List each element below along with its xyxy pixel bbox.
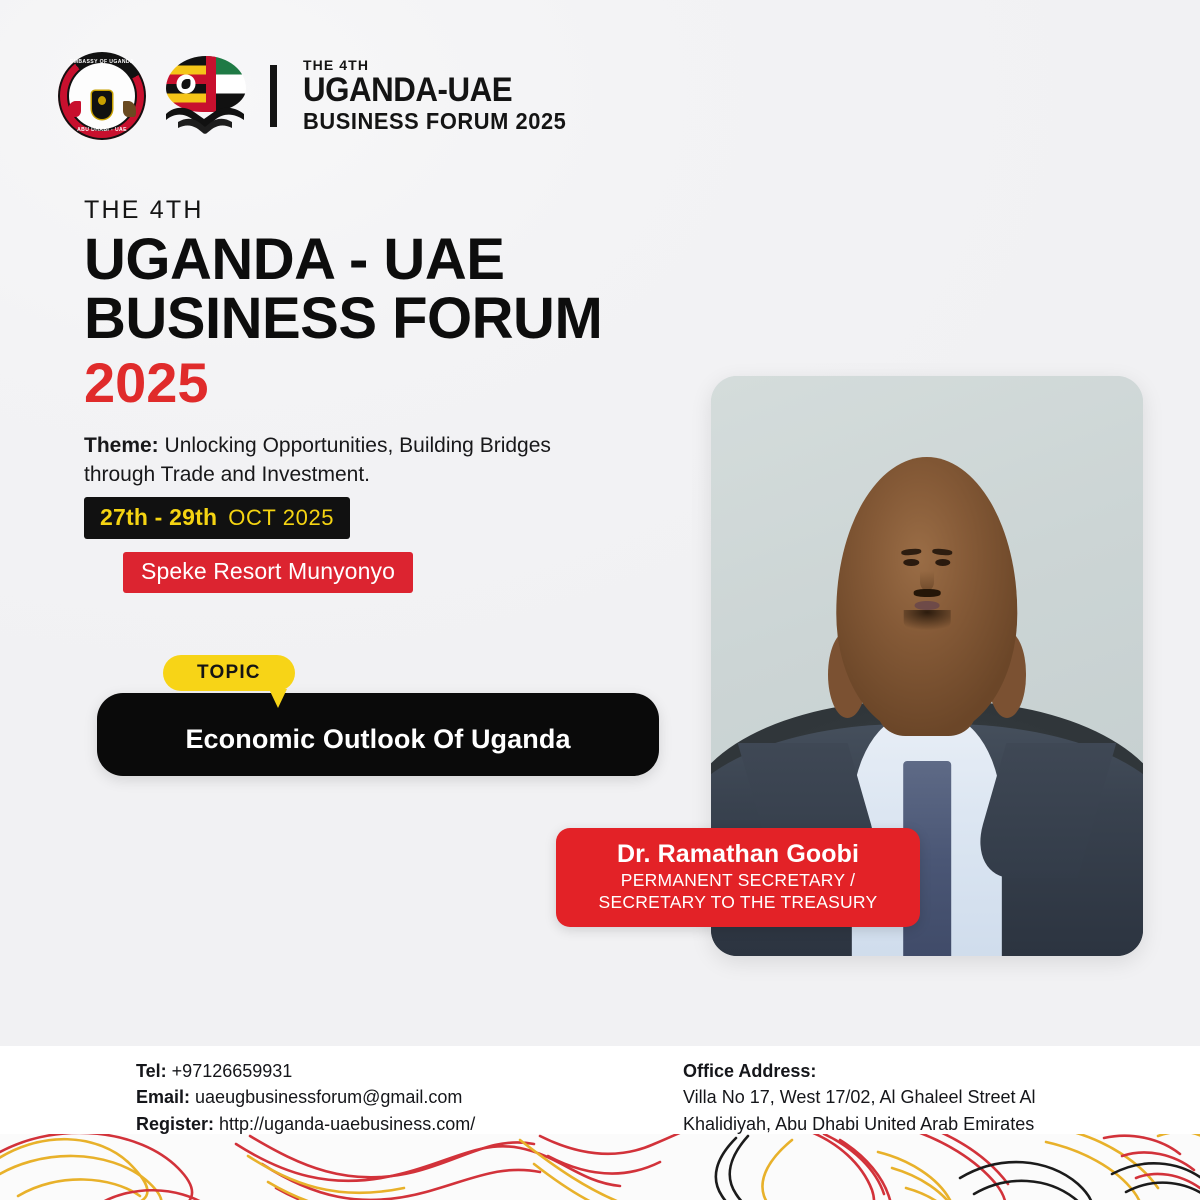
nose	[920, 571, 935, 590]
date-month-year: OCT 2025	[228, 505, 334, 531]
date-badge: 27th - 29th OCT 2025	[84, 497, 350, 539]
uganda-uae-handshake-flags-icon	[160, 52, 252, 140]
seal-top-text: EMBASSY OF UGANDA	[58, 59, 146, 65]
headline-line2: BUSINESS FORUM	[84, 288, 602, 349]
bottom-contour-pattern	[0, 1134, 1200, 1200]
footer-address: Office Address: Villa No 17, West 17/02,…	[683, 1058, 1036, 1137]
event-wordmark: THE 4TH UGANDA-UAE BUSINESS FORUM 2025	[303, 58, 580, 134]
register-url[interactable]: http://uganda-uaebusiness.com/	[214, 1114, 475, 1134]
theme-text: Theme: Unlocking Opportunities, Building…	[84, 432, 554, 490]
crested-crane-icon	[182, 79, 191, 89]
footer-email: Email: uaeugbusinessforum@gmail.com	[136, 1084, 475, 1110]
speaker-name: Dr. Ramathan Goobi	[574, 839, 902, 869]
headline-year: 2025	[84, 352, 602, 414]
uganda-embassy-seal-icon: EMBASSY OF UGANDA ABU DHABI - UAE	[58, 52, 146, 140]
email-label: Email:	[136, 1087, 190, 1107]
headline-eyebrow: THE 4TH	[84, 196, 602, 225]
shield-icon	[92, 91, 112, 119]
speaker-nameplate: Dr. Ramathan Goobi PERMANENT SECRETARY /…	[556, 828, 920, 927]
logo-divider	[270, 65, 277, 127]
wordmark-main: UGANDA-UAE	[303, 73, 558, 109]
wordmark-sub: BUSINESS FORUM 2025	[303, 109, 566, 134]
eyebrow-right	[932, 548, 952, 556]
footer-tel: Tel: +97126659931	[136, 1058, 475, 1084]
headline-block: THE 4TH UGANDA - UAE BUSINESS FORUM 2025	[84, 196, 602, 414]
seal-bottom-text: ABU DHABI - UAE	[58, 127, 146, 133]
date-range: 27th - 29th	[100, 504, 217, 531]
beard	[903, 610, 950, 632]
footer-contact: Tel: +97126659931 Email: uaeugbusinessfo…	[136, 1058, 475, 1137]
moustache	[913, 589, 940, 597]
theme-label: Theme:	[84, 434, 159, 457]
header-logos: EMBASSY OF UGANDA ABU DHABI - UAE	[58, 52, 580, 140]
address-label: Office Address:	[683, 1058, 1036, 1084]
eye-right	[935, 559, 950, 566]
speaker-role-line2: SECRETARY TO THE TREASURY	[574, 891, 902, 913]
register-label: Register:	[136, 1114, 214, 1134]
tel-label: Tel:	[136, 1061, 167, 1081]
address-line1: Villa No 17, West 17/02, Al Ghaleel Stre…	[683, 1084, 1036, 1110]
suit-lapel-right	[968, 743, 1117, 878]
venue-badge: Speke Resort Munyonyo	[123, 552, 413, 593]
eyebrow-left	[901, 548, 921, 556]
topic-box: Economic Outlook Of Uganda	[97, 693, 659, 776]
address-label-text: Office Address:	[683, 1061, 816, 1081]
headline-line1: UGANDA - UAE	[84, 229, 602, 290]
email-value[interactable]: uaeugbusinessforum@gmail.com	[190, 1087, 462, 1107]
antelope-icon	[123, 101, 136, 117]
eye-left	[903, 559, 918, 566]
event-poster: EMBASSY OF UGANDA ABU DHABI - UAE	[0, 0, 1200, 1200]
topic-pill: TOPIC	[163, 655, 295, 691]
speaker-role-line1: PERMANENT SECRETARY /	[574, 869, 902, 891]
topic-title: Economic Outlook Of Uganda	[185, 714, 570, 755]
tel-value: +97126659931	[167, 1061, 293, 1081]
seal-coat-of-arms	[81, 73, 123, 119]
crane-icon	[68, 101, 81, 117]
mouth	[914, 601, 939, 610]
handshake-glyph	[164, 96, 248, 136]
